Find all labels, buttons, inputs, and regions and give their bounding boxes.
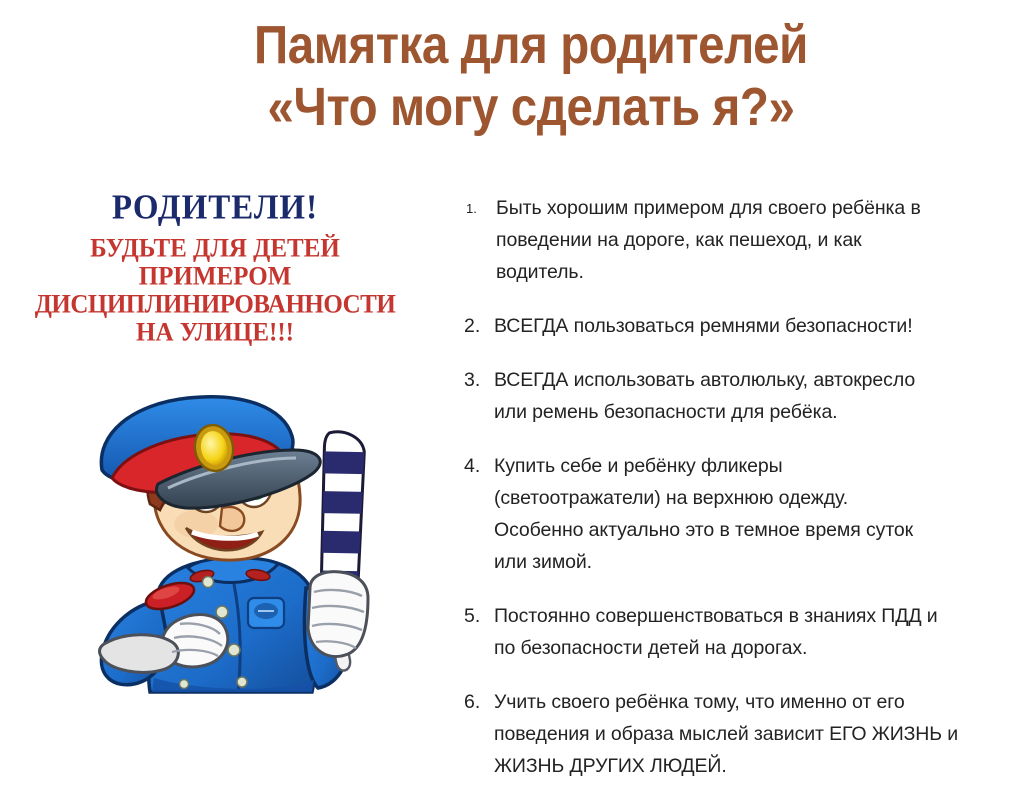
advice-line: или ремень безопасности для ребёка. — [494, 396, 1024, 428]
advice-item-1: 1. Быть хорошим примером для своего ребё… — [464, 192, 1024, 288]
banner-subline-4: НА УЛИЦЕ!!! — [30, 318, 400, 347]
cartoon-policeman-illustration — [62, 392, 402, 722]
advice-line: (светоотражатели) на верхнюю одежду. — [494, 482, 1024, 514]
advice-text-2: ВСЕГДА пользоваться ремнями безопасности… — [494, 310, 1024, 342]
glove-right — [308, 572, 368, 657]
advice-line: поведения и образа мыслей зависит ЕГО ЖИ… — [494, 718, 1024, 750]
page-title-line-1: Памятка для родителей — [97, 14, 965, 76]
banner-headline: РОДИТЕЛИ! — [30, 189, 400, 227]
advice-line: ВСЕГДА пользоваться ремнями безопасности… — [494, 310, 1024, 342]
advice-line: или зимой. — [494, 546, 1024, 578]
advice-line: Особенно актуально это в темное время су… — [494, 514, 1024, 546]
advice-line: поведении на дороге, как пешеход, и как — [496, 224, 1024, 256]
advice-number-5: 5. — [464, 600, 494, 632]
banner-subline-2: ПРИМЕРОМ — [30, 262, 400, 291]
advice-text-1: Быть хорошим примером для своего ребёнка… — [496, 192, 1024, 288]
advice-line: ВСЕГДА использовать автолюльку, автокрес… — [494, 364, 1024, 396]
advice-number-4: 4. — [464, 450, 494, 482]
advice-item-5: 5. Постоянно совершенствоваться в знания… — [464, 600, 1024, 664]
banner-subline-1: БУДЬТЕ ДЛЯ ДЕТЕЙ — [30, 234, 400, 263]
advice-item-4: 4. Купить себе и ребёнку фликеры (светоо… — [464, 450, 1024, 578]
advice-line: Учить своего ребёнка тому, что именно от… — [494, 686, 1024, 718]
advice-item-3: 3. ВСЕГДА использовать автолюльку, авток… — [464, 364, 1024, 428]
advice-line: ЖИЗНЬ ДРУГИХ ЛЮДЕЙ. — [494, 750, 1024, 782]
advice-list: 1. Быть хорошим примером для своего ребё… — [424, 192, 1024, 804]
page-title: Памятка для родителей «Что могу сделать … — [0, 14, 1024, 138]
advice-text-5: Постоянно совершенствоваться в знаниях П… — [494, 600, 1024, 664]
page-title-line-2: «Что могу сделать я?» — [97, 76, 965, 138]
advice-number-3: 3. — [464, 364, 494, 396]
advice-number-1: 1. — [464, 192, 496, 226]
advice-line: Постоянно совершенствоваться в знаниях П… — [494, 600, 1024, 632]
left-column: РОДИТЕЛИ! БУДЬТЕ ДЛЯ ДЕТЕЙ ПРИМЕРОМ ДИСЦ… — [0, 180, 410, 740]
chest-badge — [248, 598, 284, 628]
advice-line: водитель. — [496, 256, 1024, 288]
parents-banner: РОДИТЕЛИ! БУДЬТЕ ДЛЯ ДЕТЕЙ ПРИМЕРОМ ДИСЦ… — [30, 190, 400, 347]
advice-text-3: ВСЕГДА использовать автолюльку, автокрес… — [494, 364, 1024, 428]
advice-number-2: 2. — [464, 310, 494, 342]
advice-line: Купить себе и ребёнку фликеры — [494, 450, 1024, 482]
banner-subline-3: ДИСЦИПЛИНИРОВАННОСТИ — [30, 290, 400, 319]
advice-line: по безопасности детей на дорогах. — [494, 632, 1024, 664]
advice-text-4: Купить себе и ребёнку фликеры (светоотра… — [494, 450, 1024, 578]
advice-number-6: 6. — [464, 686, 494, 718]
advice-line: Быть хорошим примером для своего ребёнка… — [496, 192, 1024, 224]
advice-item-2: 2. ВСЕГДА пользоваться ремнями безопасно… — [464, 310, 1024, 342]
